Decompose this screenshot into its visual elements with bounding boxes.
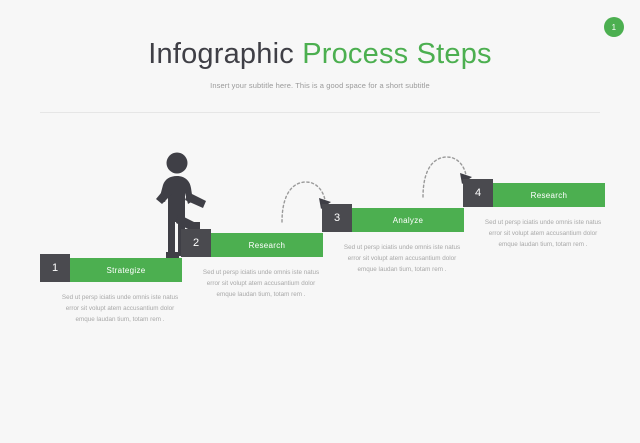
step-4-description: Sed ut persp iciatis unde omnis iste nat…	[479, 217, 607, 250]
step-2-number: 2	[181, 229, 211, 257]
page-title: Infographic Process Steps	[0, 38, 640, 71]
step-3-number: 3	[322, 204, 352, 232]
step-2-description: Sed ut persp iciatis unde omnis iste nat…	[197, 267, 325, 300]
page-title-primary: Infographic	[148, 38, 294, 70]
slide-canvas: 1 Infographic Process Steps Insert your …	[0, 0, 640, 443]
step-3-label: Analyze	[352, 208, 464, 232]
page-number-badge: 1	[604, 17, 624, 37]
step-1-description: Sed ut persp iciatis unde omnis iste nat…	[56, 292, 184, 325]
step-4-number: 4	[463, 179, 493, 207]
page-title-accent: Process Steps	[302, 38, 492, 70]
step-1-label: Strategize	[70, 258, 182, 282]
step-1-number: 1	[40, 254, 70, 282]
page-subtitle: Insert your subtitle here. This is a goo…	[0, 81, 640, 90]
header-divider	[40, 112, 600, 113]
step-2-label: Research	[211, 233, 323, 257]
step-3-description: Sed ut persp iciatis unde omnis iste nat…	[338, 242, 466, 275]
step-4-label: Research	[493, 183, 605, 207]
